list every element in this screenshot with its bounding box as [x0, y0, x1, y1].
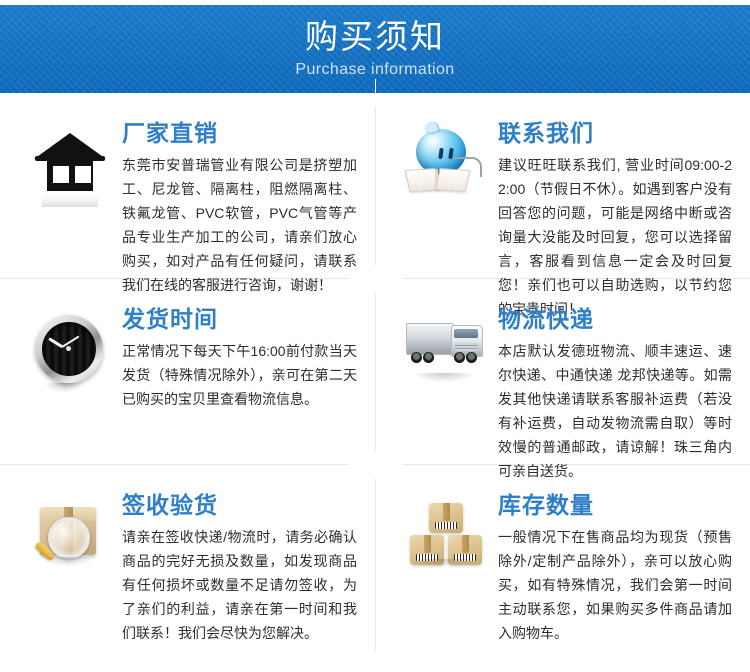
- section-icon-slot: [398, 119, 494, 233]
- section-title: 物流快递: [498, 305, 732, 333]
- section-icon-slot: [22, 119, 118, 233]
- divider-gap: [375, 265, 376, 293]
- section-icon-slot: [22, 305, 118, 419]
- section-card-shipping-time: 发货时间 正常情况下每天下午16:00前付款当天发货（特殊情况除外），亲可在第二…: [0, 279, 375, 465]
- section-text: 发货时间 正常情况下每天下午16:00前付款当天发货（特殊情况除外），亲可在第二…: [118, 305, 357, 464]
- divider-gap: [375, 451, 376, 479]
- chat-face-icon: [404, 123, 488, 207]
- section-title: 发货时间: [122, 305, 357, 333]
- section-body: 东莞市安普瑞管业有限公司是挤塑加工、尼龙管、隔离柱，阻燃隔离柱、铁氟龙管、PVC…: [122, 153, 357, 297]
- box-magnifier-icon: [28, 495, 112, 579]
- divider-gap: [375, 79, 376, 107]
- section-body: 本店默认发德班物流、顺丰速运、速尔快递、中通快递 龙邦快递等。如需发其他快递请联…: [498, 339, 732, 483]
- section-text: 联系我们 建议旺旺联系我们, 营业时间09:00-22:00（节假日不休）。如遇…: [494, 119, 732, 278]
- section-icon-slot: [398, 305, 494, 419]
- page-title: 购买须知: [305, 18, 445, 56]
- section-title: 联系我们: [498, 119, 732, 147]
- section-title: 签收验货: [122, 491, 357, 519]
- section-text: 物流快递 本店默认发德班物流、顺丰速运、速尔快递、中通快递 龙邦快递等。如需发其…: [494, 305, 732, 464]
- section-text: 库存数量 一般情况下在售商品均为现货（预售除外/定制产品除外），亲可以放心购买，…: [494, 491, 732, 651]
- section-card-logistics-express: 物流快递 本店默认发德班物流、顺丰速运、速尔快递、中通快递 龙邦快递等。如需发其…: [375, 279, 750, 465]
- section-text: 签收验货 请亲在签收快递/物流时，请务必确认商品的完好无损及数量，如发现商品有任…: [118, 491, 357, 651]
- page-subtitle: Purchase information: [295, 60, 454, 80]
- section-body: 一般情况下在售商品均为现货（预售除外/定制产品除外），亲可以放心购买，如有特殊情…: [498, 525, 732, 645]
- section-icon-slot: [22, 491, 118, 605]
- purchase-information-page: 购买须知 Purchase information 厂家直销 东莞市安普瑞管业有…: [0, 0, 750, 672]
- section-text: 厂家直销 东莞市安普瑞管业有限公司是挤塑加工、尼龙管、隔离柱，阻燃隔离柱、铁氟龙…: [118, 119, 357, 278]
- section-card-contact-us: 联系我们 建议旺旺联系我们, 营业时间09:00-22:00（节假日不休）。如遇…: [375, 93, 750, 279]
- sections-grid: 厂家直销 东莞市安普瑞管业有限公司是挤塑加工、尼龙管、隔离柱，阻燃隔离柱、铁氟龙…: [0, 93, 750, 672]
- section-body: 正常情况下每天下午16:00前付款当天发货（特殊情况除外），亲可在第二天已购买的…: [122, 339, 357, 411]
- section-title: 厂家直销: [122, 119, 357, 147]
- section-title: 库存数量: [498, 491, 732, 519]
- section-icon-slot: [398, 491, 494, 605]
- truck-icon: [404, 309, 488, 393]
- section-card-stock-quantity: 库存数量 一般情况下在售商品均为现货（预售除外/定制产品除外），亲可以放心购买，…: [375, 465, 750, 651]
- section-body: 请亲在签收快递/物流时，请务必确认商品的完好无损及数量，如发现商品有任何损坏或数…: [122, 525, 357, 645]
- section-card-manufacturer-direct-sales: 厂家直销 东莞市安普瑞管业有限公司是挤塑加工、尼龙管、隔离柱，阻燃隔离柱、铁氟龙…: [0, 93, 375, 279]
- stacked-boxes-icon: [404, 495, 488, 579]
- clock-icon: [28, 309, 112, 393]
- section-card-sign-and-inspect: 签收验货 请亲在签收快递/物流时，请务必确认商品的完好无损及数量，如发现商品有任…: [0, 465, 375, 651]
- house-icon: [28, 123, 112, 207]
